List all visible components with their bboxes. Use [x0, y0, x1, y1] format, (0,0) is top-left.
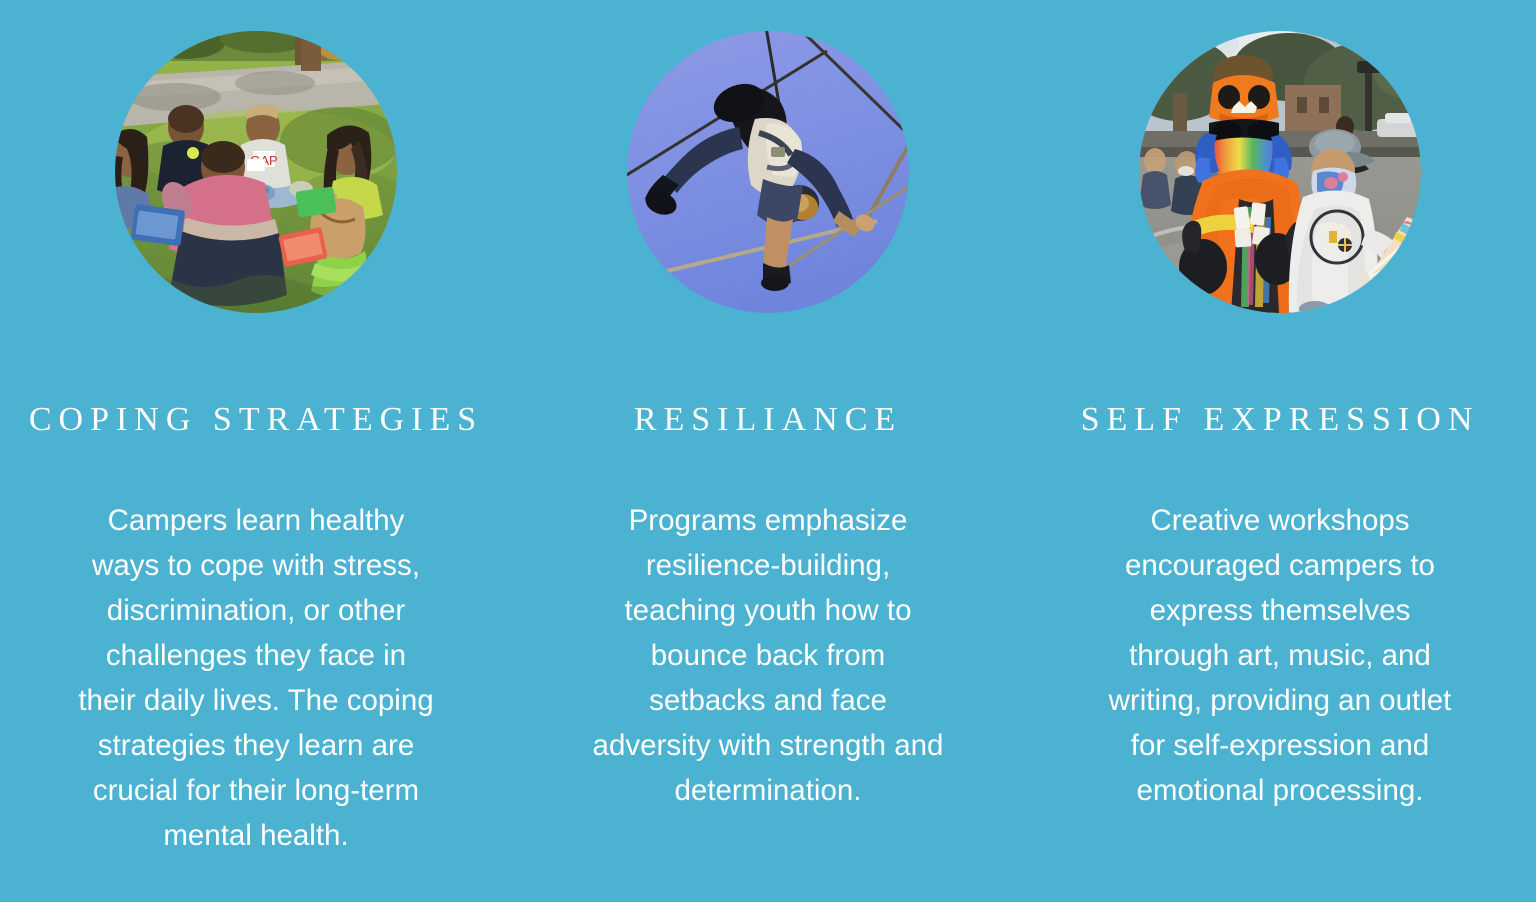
card-heading-resiliance: RESILIANCE [634, 313, 902, 440]
card-body-self-expression: Creative workshops encouraged campers to… [1109, 440, 1452, 813]
feature-column-resiliance: RESILIANCE Programs emphasize resilience… [512, 31, 1024, 902]
campers-sitting-circle-grass-photo: GAP [115, 31, 397, 313]
feature-columns: GAP [0, 0, 1536, 902]
ropes-course-tightrope-photo [627, 31, 909, 313]
feature-column-self-expression: SELF EXPRESSION Creative workshops encou… [1024, 31, 1536, 902]
card-body-coping-strategies: Campers learn healthy ways to cope with … [78, 440, 433, 858]
campers-costumes-self-expression-photo [1139, 31, 1421, 313]
card-body-resiliance: Programs emphasize resilience-building, … [593, 440, 944, 813]
card-heading-coping-strategies: COPING STRATEGIES [29, 313, 483, 440]
feature-column-coping-strategies: GAP [0, 31, 512, 902]
page-root: GAP [0, 0, 1536, 902]
card-heading-self-expression: SELF EXPRESSION [1081, 313, 1480, 440]
